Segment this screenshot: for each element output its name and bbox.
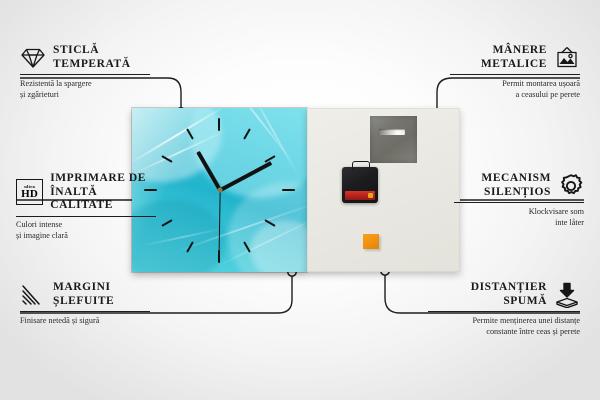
feature-title: IMPRIMARE DE ÎNALTĂ CALITATE (50, 172, 156, 213)
hand-hub (217, 188, 222, 193)
bevelled-edge-icon (20, 284, 46, 306)
clock-back-panel (307, 108, 460, 272)
feature-margini-slefuite[interactable]: MARGINI ȘLEFUITE Finisare netedă și sigu… (20, 281, 150, 326)
ultra-hd-icon-bottom: HD (21, 189, 38, 200)
feature-title: STICLĂ TEMPERATĂ (53, 44, 131, 71)
title-rule (16, 216, 156, 217)
foam-spacer (363, 234, 379, 249)
clock-mechanism (342, 167, 378, 203)
feature-subtitle: Culori intense și imagine clară (16, 219, 156, 241)
battery (345, 191, 375, 200)
diamond-icon (20, 47, 46, 69)
feature-title: MECANISM SILENȚIOS (481, 172, 551, 199)
feature-title: MARGINI ȘLEFUITE (53, 281, 114, 308)
feature-sticla-temperata[interactable]: STICLĂ TEMPERATĂ Rezistentă la spargere … (20, 44, 150, 100)
feature-subtitle: Permite menținerea unei distanțe constan… (428, 315, 580, 337)
title-rule (20, 74, 150, 75)
metal-hanger-plate (370, 116, 417, 163)
tick-12 (218, 118, 220, 131)
clock-front-face (132, 108, 307, 272)
gear-icon (558, 173, 584, 199)
title-rule (20, 311, 150, 312)
title-rule (450, 74, 580, 75)
feature-distantier-spuma[interactable]: DISTANȚIER SPUMĂ Permite menținerea unei… (428, 281, 580, 337)
title-rule (454, 202, 584, 203)
ultra-hd-icon: ultra HD (16, 179, 43, 205)
product-composition (132, 108, 460, 272)
feature-imprimare-inalta-calitate[interactable]: ultra HD IMPRIMARE DE ÎNALTĂ CALITATE Cu… (16, 172, 156, 241)
mechanism-hang-tab (352, 161, 370, 170)
feature-mecanism-silentios[interactable]: MECANISM SILENȚIOS Klockvisare som inte … (454, 172, 584, 228)
feature-subtitle: Rezistentă la spargere și zgârieturi (20, 78, 150, 100)
feature-title: DISTANȚIER SPUMĂ (471, 281, 547, 308)
press-down-pad-icon (554, 282, 580, 308)
feature-subtitle: Permit montarea ușoară a ceasului pe per… (450, 78, 580, 100)
infographic-canvas: STICLĂ TEMPERATĂ Rezistentă la spargere … (0, 0, 600, 400)
feature-title: MÂNERE METALICE (481, 44, 547, 71)
picture-frame-hanging-icon (554, 46, 580, 70)
title-rule (428, 311, 580, 312)
tick-3 (282, 189, 295, 191)
feature-subtitle: Klockvisare som inte låter (454, 206, 584, 228)
hanger-slot (379, 129, 405, 135)
feature-subtitle: Finisare netedă și sigură (20, 315, 150, 326)
feature-manere-metalice[interactable]: MÂNERE METALICE Permit montarea ușoară a… (450, 44, 580, 100)
